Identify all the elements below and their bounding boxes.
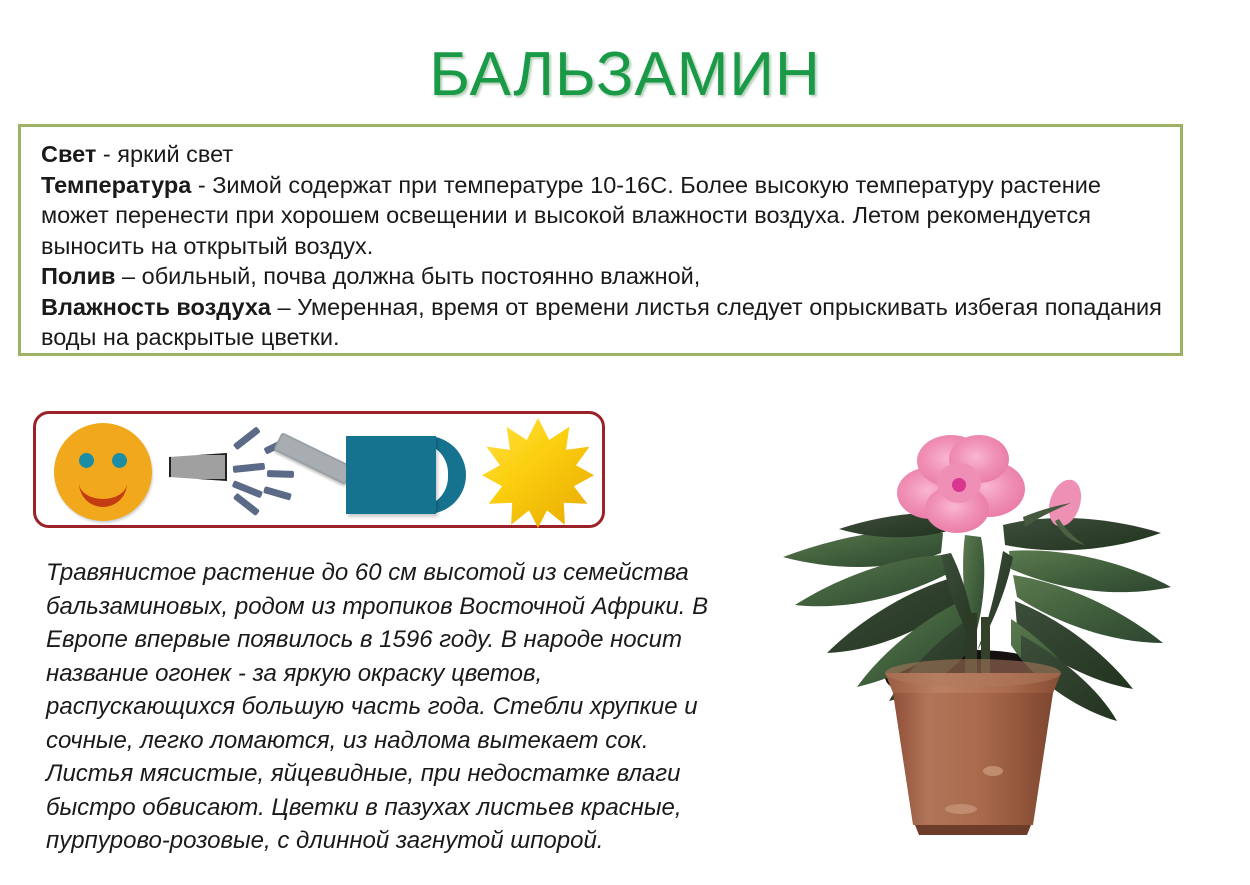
care-sep-temperature: - [191,172,212,198]
care-label-humidity: Влажность воздуха [41,294,271,320]
sun-burst-icon [482,418,594,528]
care-icon-strip [33,411,605,528]
care-line-humidity: Влажность воздуха – Умеренная, время от … [41,292,1164,353]
spray-nozzle-icon [169,453,227,481]
smiley-eye-right-icon [112,453,127,468]
flower-pot [885,659,1061,835]
care-line-watering: Полив – обильный, почва должна быть пост… [41,261,1164,292]
care-sep-watering: – [115,263,141,289]
care-line-light: Свет - яркий свет [41,139,1164,170]
slide-page: БАЛЬЗАМИН Свет - яркий свет Температура … [0,0,1250,885]
care-label-watering: Полив [41,263,115,289]
watering-can-icon [286,428,471,518]
care-sep-light: - [96,141,117,167]
care-label-light: Свет [41,141,96,167]
care-info-box: Свет - яркий свет Температура - Зимой со… [18,124,1183,356]
smiley-mouth-icon [79,473,127,507]
watering-can-body-icon [346,436,436,514]
spray-dash-icon [233,426,261,450]
smiley-eye-left-icon [79,453,94,468]
care-text-light: яркий свет [117,141,233,167]
plant-description: Травянистое растение до 60 см высотой из… [46,556,726,858]
icon-row [36,414,602,525]
care-line-temperature: Температура - Зимой содержат при темпера… [41,170,1164,262]
spray-dash-icon [233,463,266,473]
page-title: БАЛЬЗАМИН [0,44,1250,106]
care-sep-humidity: – [271,294,297,320]
impatiens-plant-photo [765,405,1220,865]
smiley-face-icon [54,423,152,521]
watering-can-spout-icon [273,432,354,485]
care-label-temperature: Температура [41,172,191,198]
care-text-watering: обильный, почва должна быть постоянно вл… [142,263,701,289]
